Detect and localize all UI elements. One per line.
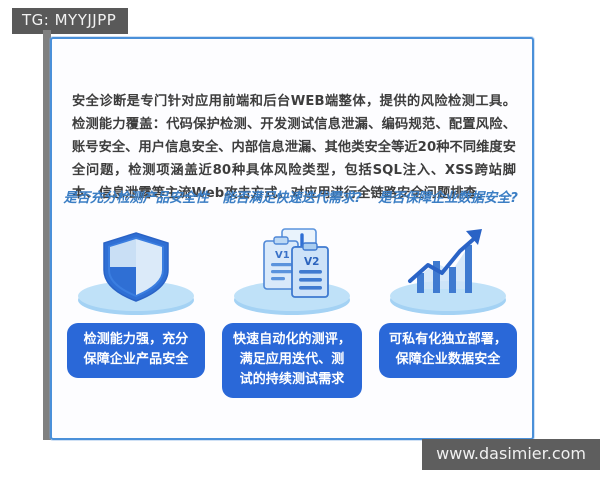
- feature-column-data-security: 是否保障企业数据安全? 可私有化: [372, 191, 524, 398]
- column-heading-iteration: 能否满足快速迭代需求?: [222, 191, 361, 209]
- feature-column-iteration: 能否满足快速迭代需求? V1: [216, 191, 368, 398]
- column-heading-data-security: 是否保障企业数据安全?: [378, 191, 517, 209]
- shield-illustration: [60, 215, 212, 323]
- growth-chart-illustration: [372, 215, 524, 323]
- version-documents-illustration: V1 V2: [216, 215, 368, 323]
- feature-columns: 是否充分检测产品安全性: [60, 191, 524, 398]
- content-card: 安全诊断是专门针对应用前端和后台WEB端整体，提供的风险检测工具。检测能力覆盖：…: [50, 37, 534, 440]
- caption-line: 试的持续测试需求: [231, 370, 353, 390]
- doc-label-v1: V1: [275, 250, 290, 261]
- caption-line: 快速自动化的测评，: [231, 330, 353, 350]
- doc-label-v2: V2: [304, 256, 319, 268]
- feature-column-security: 是否充分检测产品安全性: [60, 191, 212, 398]
- caption-security: 检测能力强，充分 保障企业产品安全: [67, 323, 205, 378]
- caption-line: 保障企业数据安全: [388, 350, 508, 370]
- intro-paragraph: 安全诊断是专门针对应用前端和后台WEB端整体，提供的风险检测工具。检测能力覆盖：…: [72, 90, 516, 205]
- column-heading-security: 是否充分检测产品安全性: [63, 191, 208, 209]
- caption-line: 检测能力强，充分: [76, 330, 196, 350]
- site-watermark: www.dasimier.com: [422, 439, 600, 470]
- caption-iteration: 快速自动化的测评， 满足应用迭代、测 试的持续测试需求: [222, 323, 362, 398]
- caption-line: 可私有化独立部署，: [388, 330, 508, 350]
- caption-data-security: 可私有化独立部署， 保障企业数据安全: [379, 323, 517, 378]
- tg-watermark-tag: TG: MYYJJPP: [12, 8, 128, 34]
- caption-line: 满足应用迭代、测: [231, 350, 353, 370]
- caption-line: 保障企业产品安全: [76, 350, 196, 370]
- shield-icon: [60, 215, 212, 323]
- version-documents-icon: V1 V2: [216, 215, 368, 323]
- growth-chart-icon: [372, 215, 524, 323]
